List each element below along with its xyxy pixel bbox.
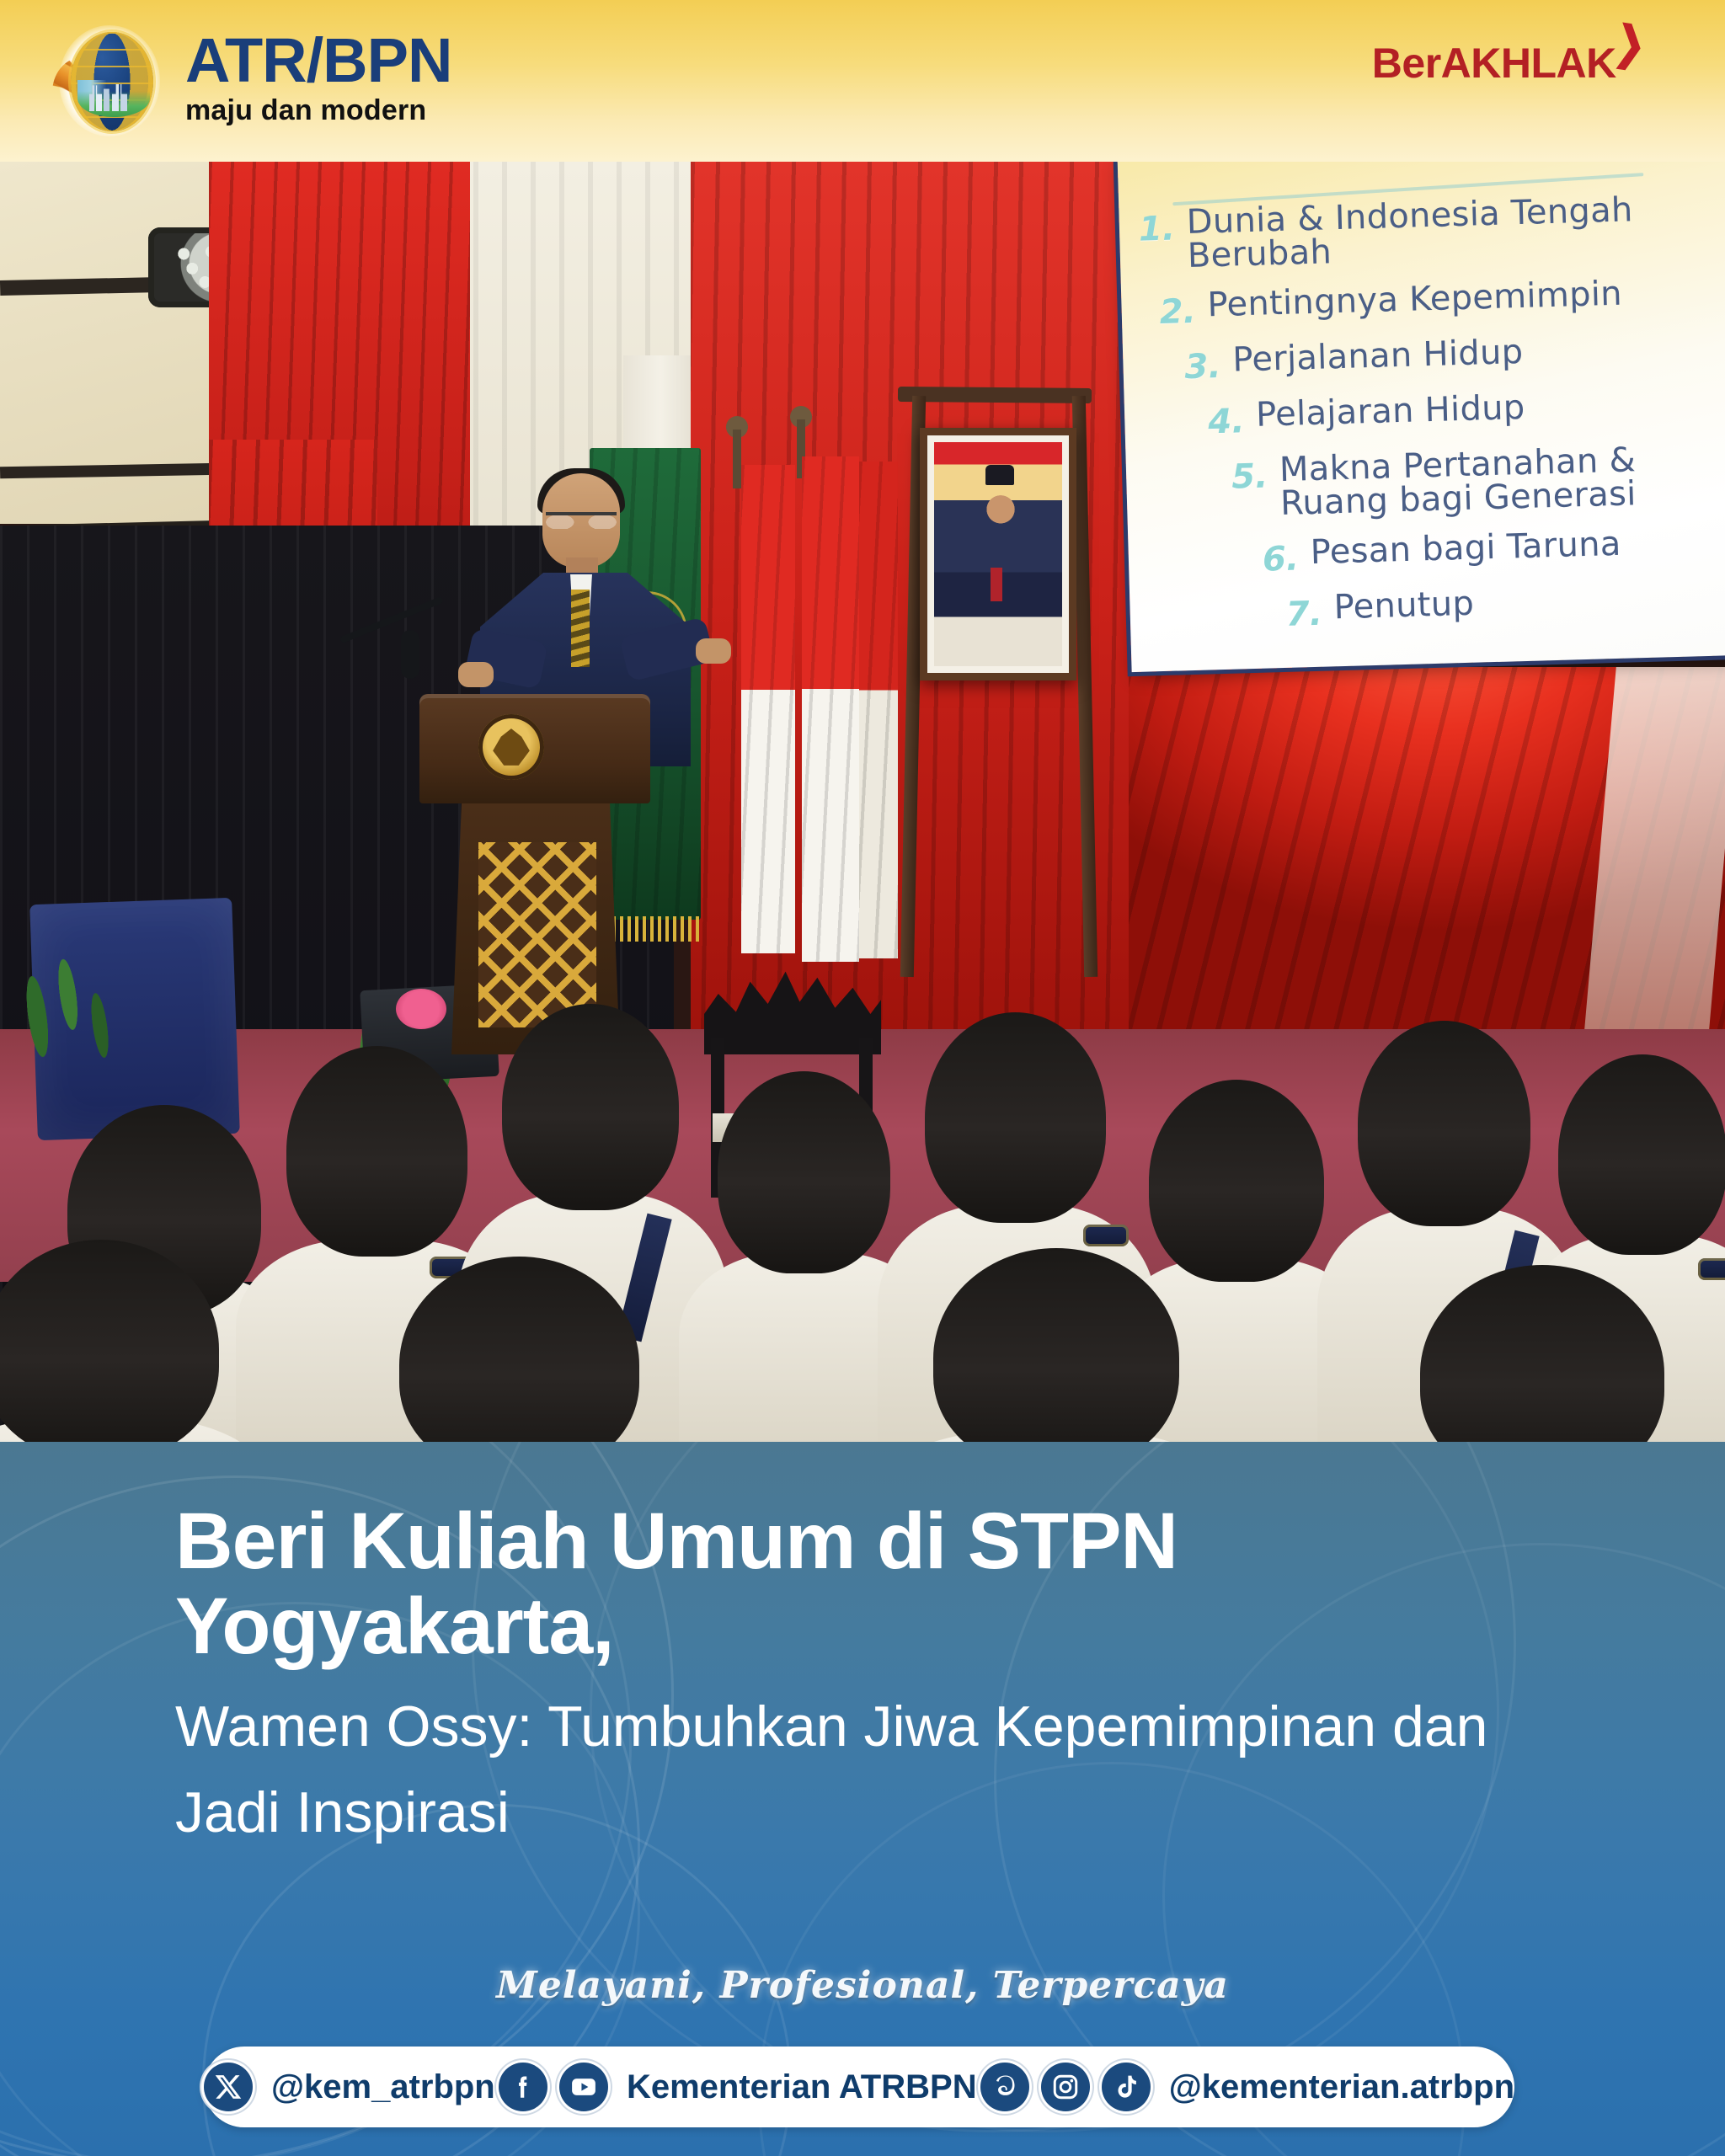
social-group-facebook-youtube: Kementerian ATRBPN (499, 2063, 977, 2111)
slide-number: 2. (1148, 287, 1196, 333)
globe-icon (71, 32, 153, 131)
brand-text: ATR/BPN maju dan modern (185, 31, 451, 126)
facebook-icon[interactable] (499, 2063, 547, 2111)
page-subtitle: Wamen Ossy: Tumbuhkan Jiwa Kepemimpinan … (175, 1684, 1523, 1855)
social-handle-facebook-youtube: Kementerian ATRBPN (627, 2068, 977, 2106)
slide-agenda-list: 1. Dunia & Indonesia Tengah Berubah 2. P… (1119, 188, 1725, 650)
header-bar: ATR/BPN maju dan modern BerAKHLAK ❯ (0, 0, 1725, 162)
presidential-portrait (920, 428, 1076, 680)
brand-tagline: maju dan modern (185, 94, 451, 127)
indonesia-flag (859, 462, 898, 958)
slide-text: Berubah (1187, 233, 1332, 275)
chevron-right-icon: ❯ (1611, 15, 1649, 72)
slide-text: Ruang bagi Generasi (1280, 475, 1637, 523)
social-group-threads-instagram-tiktok: @kementerian.atrbpn (980, 2063, 1514, 2111)
x-icon[interactable] (204, 2063, 253, 2111)
slide-item: 3. Perjalanan Hidup (1173, 327, 1725, 387)
portrait-stand (910, 387, 1078, 969)
berakhlak-label: BerAKHLAK (1372, 39, 1616, 88)
instagram-icon[interactable] (1041, 2063, 1090, 2111)
garuda-emblem-icon (478, 714, 544, 780)
microphone-stem (401, 630, 419, 679)
slide-text: Perjalanan Hidup (1232, 334, 1524, 379)
slide-item: 6. Pesan bagi Taruna (1251, 521, 1725, 579)
social-handle-x: @kem_atrbpn (271, 2068, 495, 2106)
slide-number: 7. (1274, 589, 1322, 634)
slide-text: Pentingnya Kepemimpin (1207, 275, 1623, 324)
slide-item: 4. Pelajaran Hidup (1197, 382, 1725, 442)
flagpole (733, 430, 741, 488)
brand-lockup: ATR/BPN maju dan modern (49, 20, 451, 138)
slide-item: 7. Penutup (1274, 576, 1725, 633)
slide-number: 4. (1197, 397, 1245, 442)
indonesia-flag (741, 465, 795, 953)
slide-item: 2. Pentingnya Kepemimpin (1148, 271, 1725, 332)
tiktok-icon[interactable] (1102, 2063, 1151, 2111)
slide-text: Penutup (1333, 584, 1475, 626)
threads-icon[interactable] (980, 2063, 1029, 2111)
slide-text: Pelajaran Hidup (1256, 389, 1526, 435)
social-media-bar: @kem_atrbpn Kementerian ATRBPN (204, 2047, 1514, 2127)
atrbpn-logo-icon (49, 20, 167, 138)
slide-number: 3. (1173, 342, 1221, 387)
page-title: Beri Kuliah Umum di STPN Yogyakarta, (175, 1499, 1405, 1668)
social-group-x: @kem_atrbpn (204, 2063, 495, 2111)
social-handle-threads-instagram-tiktok: @kementerian.atrbpn (1169, 2068, 1514, 2106)
brand-name: ATR/BPN (185, 31, 451, 90)
tagline: Melayani, Profesional, Terpercaya (0, 1964, 1725, 2007)
indonesia-flag (802, 456, 859, 962)
event-photo: 1. Dunia & Indonesia Tengah Berubah 2. P… (0, 162, 1725, 1442)
projection-screen: 1. Dunia & Indonesia Tengah Berubah 2. P… (1118, 162, 1725, 672)
poster-root: ATR/BPN maju dan modern BerAKHLAK ❯ (0, 0, 1725, 2156)
berakhlak-logo: BerAKHLAK ❯ (1372, 39, 1649, 88)
podium (430, 694, 640, 1056)
slide-text: Pesan bagi Taruna (1310, 525, 1621, 571)
glasses-icon (546, 512, 617, 529)
slide-number: 6. (1251, 534, 1299, 579)
youtube-icon[interactable] (559, 2063, 608, 2111)
